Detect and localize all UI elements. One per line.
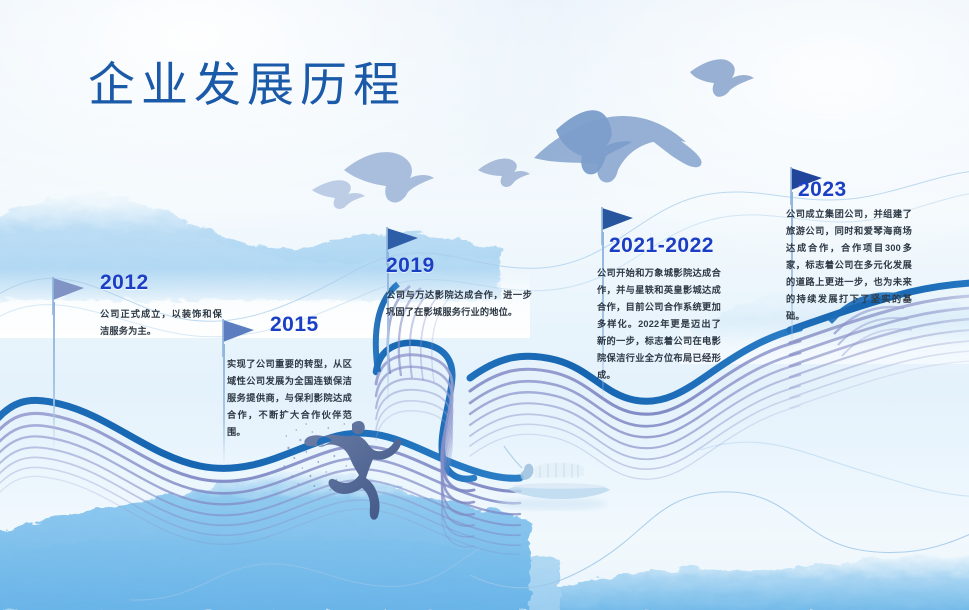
flag-pole-line: [53, 302, 55, 452]
flag-pole-line: [223, 344, 225, 464]
milestone-description: 公司成立集团公司，并组建了旅游公司，同时和爱琴海商场达成合作，合作项目300多家…: [786, 206, 912, 325]
milestone-description: 公司与万达影院达成合作，进一步巩固了在影城服务行业的地位。: [386, 287, 532, 321]
milestone-year: 2019: [386, 254, 435, 278]
milestone-description: 公司正式成立，以装饰和保洁服务为主。: [100, 306, 222, 340]
milestone-year: 2012: [100, 271, 149, 295]
milestone-year: 2021-2022: [609, 234, 714, 258]
poster-canvas: 2012 公司正式成立，以装饰和保洁服务为主。 2015 实现了公司重要的转型，…: [0, 0, 969, 610]
flag-icon: [44, 276, 90, 316]
milestone-description: 公司开始和万象城影院达成合作，并与星轶和英皇影城达成合作，目前公司合作系统更加多…: [597, 265, 721, 384]
milestone-description: 实现了公司重要的转型，从区域性公司发展为全国连锁保洁服务提供商，与保利影院达成合…: [227, 356, 352, 441]
fisherman-boat-icon: [496, 446, 610, 510]
milestone-year: 2015: [270, 313, 319, 337]
milestone-year: 2023: [798, 178, 847, 202]
page-title: 企业发展历程: [88, 60, 406, 109]
flag-icon: [214, 318, 260, 358]
